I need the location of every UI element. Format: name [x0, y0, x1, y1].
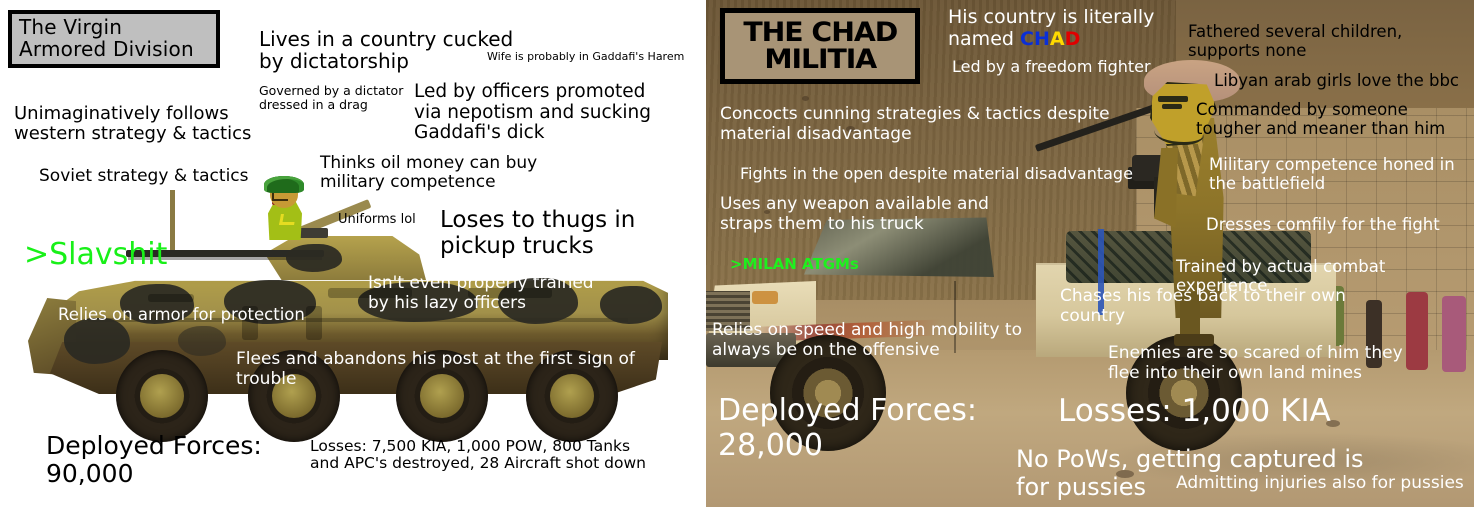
virgin-panel: The Virgin Armored Division [0, 0, 706, 507]
label-governed-by-dictator: Governed by a dictator dressed in a drag [259, 84, 403, 112]
label-losses: Losses: 1,000 KIA [1058, 393, 1331, 430]
label-fights-in-open: Fights in the open despite material disa… [740, 165, 1133, 184]
label-milan-atgms: >MILAN ATGMs [730, 256, 859, 274]
chad-title-line2: MILITIA [764, 46, 876, 73]
chad-eye [1162, 104, 1182, 109]
label-deployed-forces: Deployed Forces: 90,000 [46, 432, 262, 488]
label-soviet-tactics: Soviet strategy & tactics [39, 167, 249, 186]
label-relies-on-speed: Relies on speed and high mobility to alw… [712, 320, 1022, 360]
virgin-wojak-character [258, 176, 314, 238]
label-slavshit: >Slavshit [24, 238, 167, 271]
label-fathered-children: Fathered several children, supports none [1188, 22, 1402, 61]
apc-camo-blob [178, 326, 226, 356]
label-flees-abandons-post: Flees and abandons his post at the first… [236, 350, 635, 389]
label-loses-to-thugs: Loses to thugs in pickup trucks [440, 208, 635, 260]
label-wife-harem: Wife is probably in Gaddafi's Harem [487, 51, 684, 63]
chad-panel: THE CHAD MILITIA His country is literall… [706, 0, 1474, 507]
apc-detail-plate [148, 294, 194, 302]
label-losses: Losses: 7,500 KIA, 1,000 POW, 800 Tanks … [310, 438, 646, 473]
truck-headlight [752, 291, 778, 304]
label-officers-nepotism: Led by officers promoted via nepotism an… [414, 82, 651, 144]
wojak-zipper [279, 214, 296, 225]
label-military-competence: Military competence honed in the battlef… [1209, 155, 1455, 194]
virgin-vs-chad-meme: The Virgin Armored Division [0, 0, 1474, 507]
label-admitting-injuries: Admitting injuries also for pussies [1176, 473, 1464, 493]
label-enemies-scared: Enemies are so scared of him they flee i… [1108, 343, 1403, 383]
label-lives-in-country: Lives in a country cucked by dictatorshi… [259, 28, 513, 73]
virgin-title-box: The Virgin Armored Division [8, 10, 220, 68]
apc-antenna-mast [170, 190, 175, 252]
background-villager [1442, 296, 1466, 372]
chad-eyebrow [1158, 96, 1188, 102]
label-oil-money: Thinks oil money can buy military compet… [320, 154, 537, 192]
label-led-by-freedom-fighter: Led by a freedom fighter [952, 58, 1151, 77]
chad-title-box: THE CHAD MILITIA [720, 8, 920, 84]
label-deployed-forces: Deployed Forces: 28,000 [718, 393, 977, 464]
background-villager [1406, 292, 1428, 370]
label-commanded-by-someone: Commanded by someone tougher and meaner … [1196, 100, 1445, 139]
label-unimaginative-tactics: Unimaginatively follows western strategy… [14, 104, 251, 144]
label-not-trained: Isn't even properly trained by his lazy … [368, 274, 594, 313]
label-country-named-chad: His country is literally named CHAD [948, 6, 1154, 51]
label-libyan-girls-bbc: Libyan arab girls love the bbc [1214, 71, 1459, 90]
label-uniforms-lol: Uniforms lol [338, 213, 416, 228]
wall-speck [802, 96, 809, 101]
chad-word: CHAD [1020, 28, 1080, 50]
apc-camo-blob [600, 286, 662, 324]
camo-helmet-icon [264, 176, 304, 193]
label-dresses-comfily: Dresses comfily for the fight [1206, 215, 1440, 234]
label-concocts-strategies: Concocts cunning strategies & tactics de… [720, 104, 1110, 144]
apc-camo-blob [286, 244, 342, 272]
label-uses-any-weapon: Uses any weapon available and straps the… [720, 194, 989, 234]
soldier-arm [1154, 148, 1178, 228]
chad-title-line1: THE CHAD [743, 19, 897, 46]
apc-wheel [116, 350, 208, 442]
apc-detail-plate [306, 306, 322, 340]
label-chases-foes: Chases his foes back to their own countr… [1060, 286, 1346, 326]
virgin-title-text: The Virgin Armored Division [19, 17, 209, 60]
label-relies-on-armor: Relies on armor for protection [58, 306, 305, 325]
